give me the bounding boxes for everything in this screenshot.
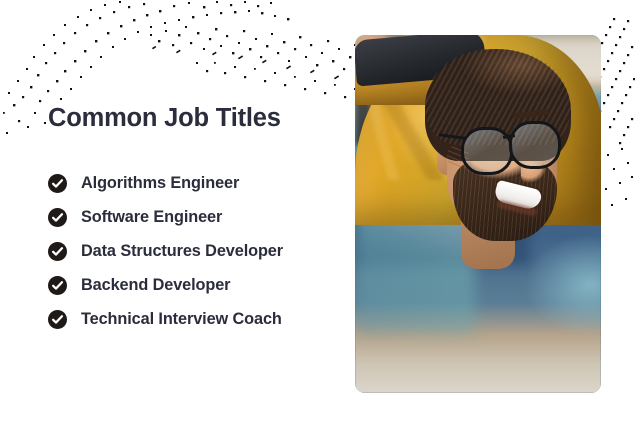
job-title-label: Data Structures Developer bbox=[81, 242, 283, 261]
list-item: Technical Interview Coach bbox=[48, 302, 348, 336]
check-circle-icon bbox=[48, 276, 67, 295]
slide-canvas: Common Job Titles Algorithms Engineer So… bbox=[0, 0, 635, 423]
text-column: Common Job Titles Algorithms Engineer So… bbox=[48, 104, 348, 132]
check-circle-icon bbox=[48, 208, 67, 227]
job-title-label: Backend Developer bbox=[81, 276, 230, 295]
list-item: Software Engineer bbox=[48, 200, 348, 234]
check-circle-icon bbox=[48, 242, 67, 261]
list-item: Algorithms Engineer bbox=[48, 166, 348, 200]
job-title-list: Algorithms Engineer Software Engineer Da… bbox=[48, 166, 348, 336]
photo-head bbox=[417, 49, 582, 264]
job-title-label: Technical Interview Coach bbox=[81, 310, 282, 329]
check-circle-icon bbox=[48, 310, 67, 329]
photo-glasses-right-lens bbox=[509, 121, 561, 169]
list-item: Backend Developer bbox=[48, 268, 348, 302]
check-circle-icon bbox=[48, 174, 67, 193]
job-title-label: Algorithms Engineer bbox=[81, 174, 239, 193]
list-item: Data Structures Developer bbox=[48, 234, 348, 268]
photo-glasses-left-lens bbox=[461, 127, 513, 175]
smiling-developer-photo bbox=[355, 35, 601, 393]
job-title-label: Software Engineer bbox=[81, 208, 222, 227]
page-title: Common Job Titles bbox=[48, 104, 348, 132]
